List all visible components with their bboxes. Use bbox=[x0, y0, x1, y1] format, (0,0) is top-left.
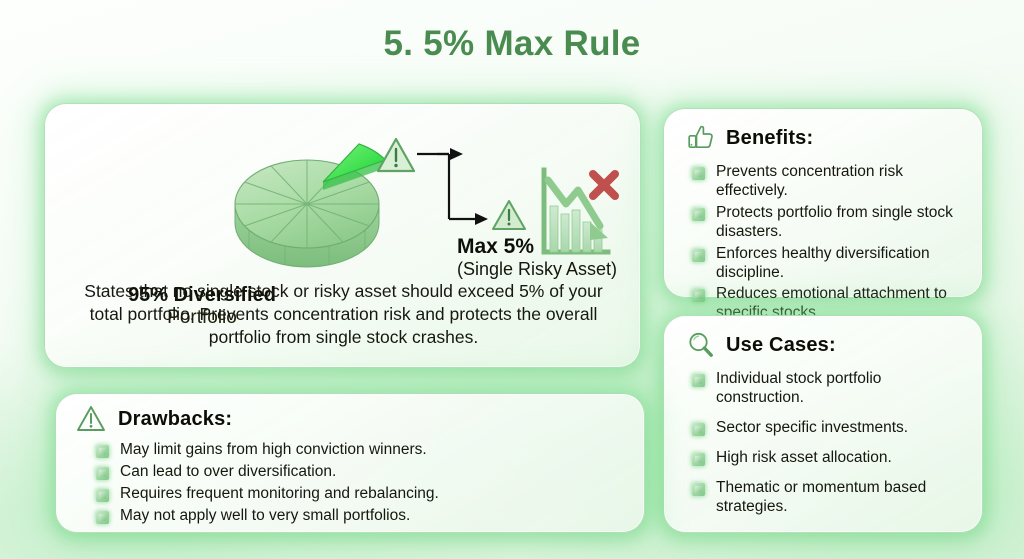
arrowhead-down-icon bbox=[475, 213, 488, 225]
bullet-marker-icon bbox=[96, 511, 109, 524]
benefits-list: Prevents concentration risk effectively.… bbox=[692, 163, 964, 326]
thumbs-up-icon bbox=[686, 123, 716, 153]
benefits-header: Benefits: bbox=[686, 123, 813, 153]
use-cases-card: Use Cases: Individual stock portfolio co… bbox=[663, 315, 983, 533]
main-rule-card: 95% Diversified Portfolio Max 5% (Single… bbox=[44, 103, 641, 368]
list-item: Prevents concentration risk effectively. bbox=[692, 163, 964, 201]
use-cases-list: Individual stock portfolio construction.… bbox=[692, 370, 967, 527]
bullet-marker-icon bbox=[692, 483, 705, 496]
arrowhead-up-icon bbox=[450, 148, 463, 160]
drawbacks-heading: Drawbacks: bbox=[118, 408, 232, 431]
bullet-marker-icon bbox=[692, 423, 705, 436]
list-item: High risk asset allocation. bbox=[692, 449, 967, 468]
list-item: Can lead to over diversification. bbox=[96, 463, 616, 482]
bullet-marker-icon bbox=[692, 167, 705, 180]
use-cases-heading: Use Cases: bbox=[726, 334, 836, 357]
bullet-marker-icon bbox=[96, 445, 109, 458]
drawbacks-card: Drawbacks: May limit gains from high con… bbox=[55, 393, 645, 533]
list-item: Individual stock portfolio construction. bbox=[692, 370, 967, 408]
benefits-heading: Benefits: bbox=[726, 127, 813, 150]
bullet-marker-icon bbox=[96, 489, 109, 502]
list-item: Protects portfolio from single stock dis… bbox=[692, 204, 964, 242]
red-x-icon bbox=[593, 174, 615, 196]
drawbacks-header: Drawbacks: bbox=[74, 403, 232, 435]
list-item: Requires frequent monitoring and rebalan… bbox=[96, 485, 616, 504]
list-item: May not apply well to very small portfol… bbox=[96, 507, 616, 526]
list-item: Enforces healthy diversification discipl… bbox=[692, 245, 964, 283]
callout-line1: Max 5% bbox=[457, 235, 617, 259]
bullet-marker-icon bbox=[692, 249, 705, 262]
arrow-icon bbox=[417, 154, 449, 219]
list-item: Sector specific investments. bbox=[692, 419, 967, 438]
warning-triangle-small-icon bbox=[493, 201, 525, 229]
bullet-marker-icon bbox=[692, 208, 705, 221]
bullet-marker-icon bbox=[692, 374, 705, 387]
warning-triangle-icon bbox=[74, 403, 108, 435]
use-cases-header: Use Cases: bbox=[686, 330, 836, 360]
page-title: 5. 5% Max Rule bbox=[0, 24, 1024, 64]
callout-line2: (Single Risky Asset) bbox=[457, 259, 617, 280]
drawbacks-list: May limit gains from high conviction win… bbox=[96, 441, 616, 529]
bullet-marker-icon bbox=[96, 467, 109, 480]
rule-description: States that no single stock or risky ass… bbox=[69, 280, 618, 348]
max-callout: Max 5% (Single Risky Asset) bbox=[457, 235, 617, 280]
list-item: May limit gains from high conviction win… bbox=[96, 441, 616, 460]
bullet-marker-icon bbox=[692, 453, 705, 466]
warning-triangle-icon bbox=[378, 139, 414, 171]
magnifier-icon bbox=[686, 330, 716, 360]
benefits-card: Benefits: Prevents concentration risk ef… bbox=[663, 108, 983, 298]
list-item: Thematic or momentum based strategies. bbox=[692, 479, 967, 517]
bullet-marker-icon bbox=[692, 289, 705, 302]
